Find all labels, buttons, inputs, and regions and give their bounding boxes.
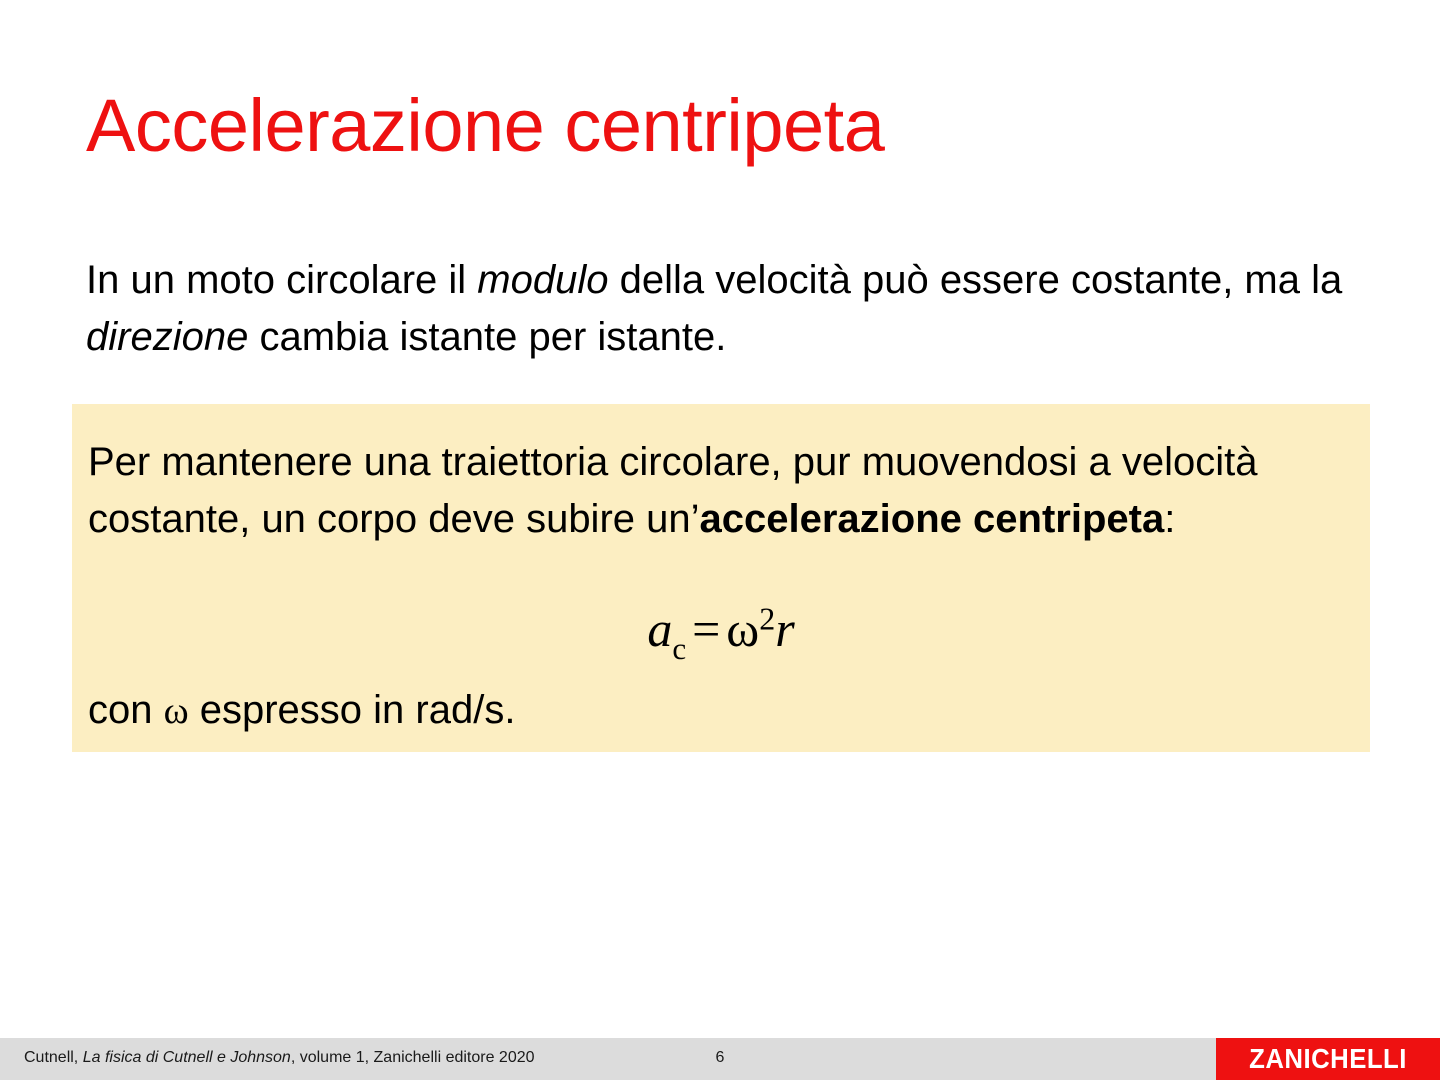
formula-variable-r: r [775,601,794,657]
intro-text-part1: In un moto circolare il [86,258,477,302]
intro-emphasis-modulo: modulo [477,258,608,302]
zanichelli-logo: ZANICHELLI [1216,1038,1440,1080]
callout-text-part2: : [1164,497,1175,541]
intro-emphasis-direzione: direzione [86,315,248,359]
intro-text-part3: cambia istante per istante. [248,315,726,359]
callout-note-units: con ω espresso in rad/s. [88,686,515,735]
slide-canvas: Accelerazione centripeta In un moto circ… [0,0,1440,1080]
page-title: Accelerazione centripeta [86,86,1366,166]
formula-subscript-c: c [672,631,686,666]
callout-bold-accelerazione-centripeta: accelerazione centripeta [700,497,1165,541]
formula-variable-a: a [647,601,672,657]
formula-omega-symbol: ω [726,601,759,657]
intro-text-part2: della velocità può essere costante, ma l… [608,258,1342,302]
callout-note-suffix: espresso in rad/s. [189,688,516,732]
zanichelli-logo-text: ZANICHELLI [1225,1038,1431,1080]
formula-equals-sign: = [686,601,726,657]
formula-centripetal-acceleration: ac=ω2r [72,604,1370,654]
callout-paragraph: Per mantenere una traiettoria circolare,… [88,434,1330,548]
omega-symbol: ω [164,690,189,732]
formula-exponent-2: 2 [759,600,775,636]
intro-paragraph: In un moto circolare il modulo della vel… [86,252,1376,366]
highlight-callout-box: Per mantenere una traiettoria circolare,… [72,404,1370,752]
callout-note-prefix: con [88,688,164,732]
